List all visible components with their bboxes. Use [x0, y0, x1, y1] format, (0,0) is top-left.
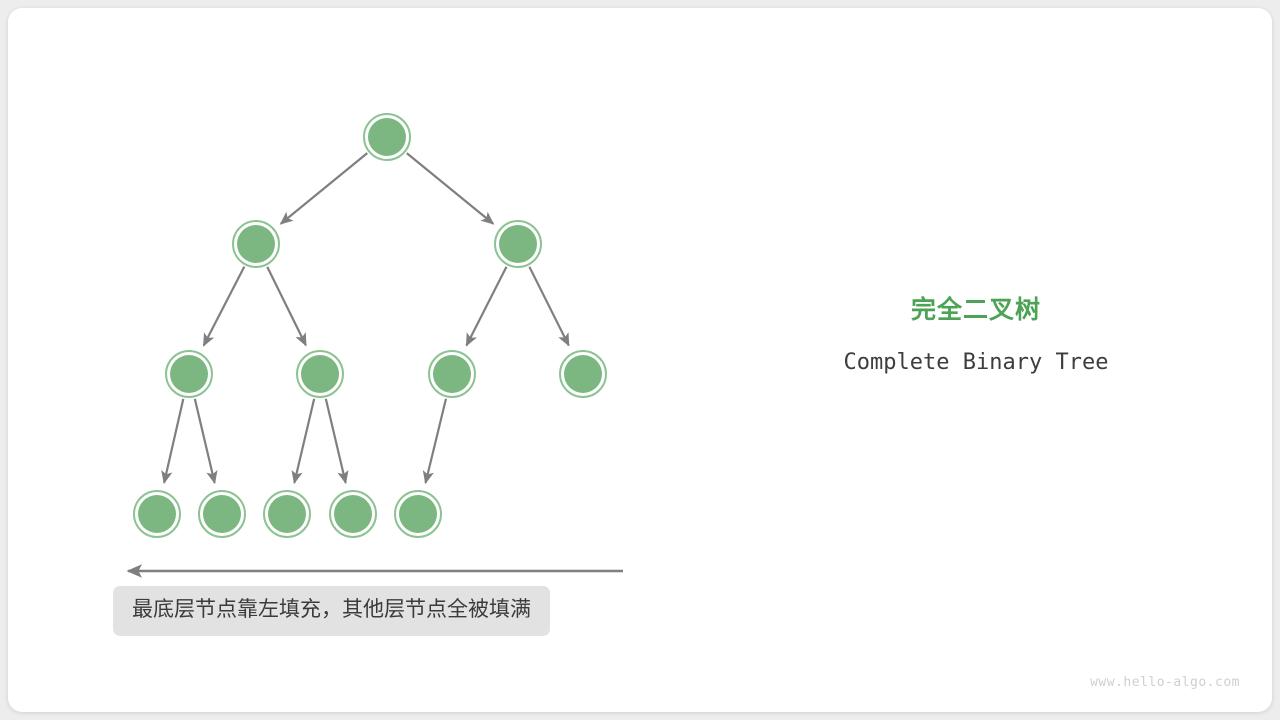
watermark: www.hello-algo.com: [1090, 675, 1240, 690]
tree-edge: [195, 399, 215, 483]
tree-node-fill: [368, 118, 406, 156]
tree-node: [495, 221, 541, 267]
tree-node: [560, 351, 606, 397]
tree-edge: [407, 153, 493, 224]
tree-node: [166, 351, 212, 397]
tree-edge: [326, 399, 346, 483]
tree-node-layer: [134, 114, 606, 537]
tree-node-fill: [399, 495, 437, 533]
tree-node: [264, 491, 310, 537]
caption-pill: 最底层节点靠左填充，其他层节点全被填满: [113, 586, 550, 636]
legend-block: 完全二叉树 Complete Binary Tree: [708, 293, 1244, 377]
tree-node: [297, 351, 343, 397]
tree-node-fill: [334, 495, 372, 533]
tree-node: [330, 491, 376, 537]
tree-edge: [529, 267, 568, 346]
tree-edge: [281, 153, 367, 224]
tree-node: [199, 491, 245, 537]
tree-node: [429, 351, 475, 397]
tree-node: [364, 114, 410, 160]
tree-edge: [466, 267, 506, 346]
tree-edge: [267, 267, 306, 345]
tree-edge: [164, 399, 183, 483]
tree-node-fill: [203, 495, 241, 533]
tree-edge: [204, 267, 245, 346]
diagram-subtitle: Complete Binary Tree: [708, 327, 1244, 377]
tree-node-fill: [138, 495, 176, 533]
tree-node-fill: [499, 225, 537, 263]
diagram-card: 完全二叉树 Complete Binary Tree 最底层节点靠左填充，其他层…: [8, 8, 1272, 712]
tree-node-fill: [433, 355, 471, 393]
tree-node-fill: [301, 355, 339, 393]
tree-node-fill: [237, 225, 275, 263]
tree-node: [134, 491, 180, 537]
diagram-title: 完全二叉树: [708, 293, 1244, 327]
tree-edge: [426, 399, 446, 483]
tree-node: [395, 491, 441, 537]
tree-node-fill: [268, 495, 306, 533]
tree-edge-layer: [164, 153, 569, 483]
tree-node-fill: [170, 355, 208, 393]
tree-node: [233, 221, 279, 267]
tree-edge: [294, 399, 314, 483]
tree-node-fill: [564, 355, 602, 393]
